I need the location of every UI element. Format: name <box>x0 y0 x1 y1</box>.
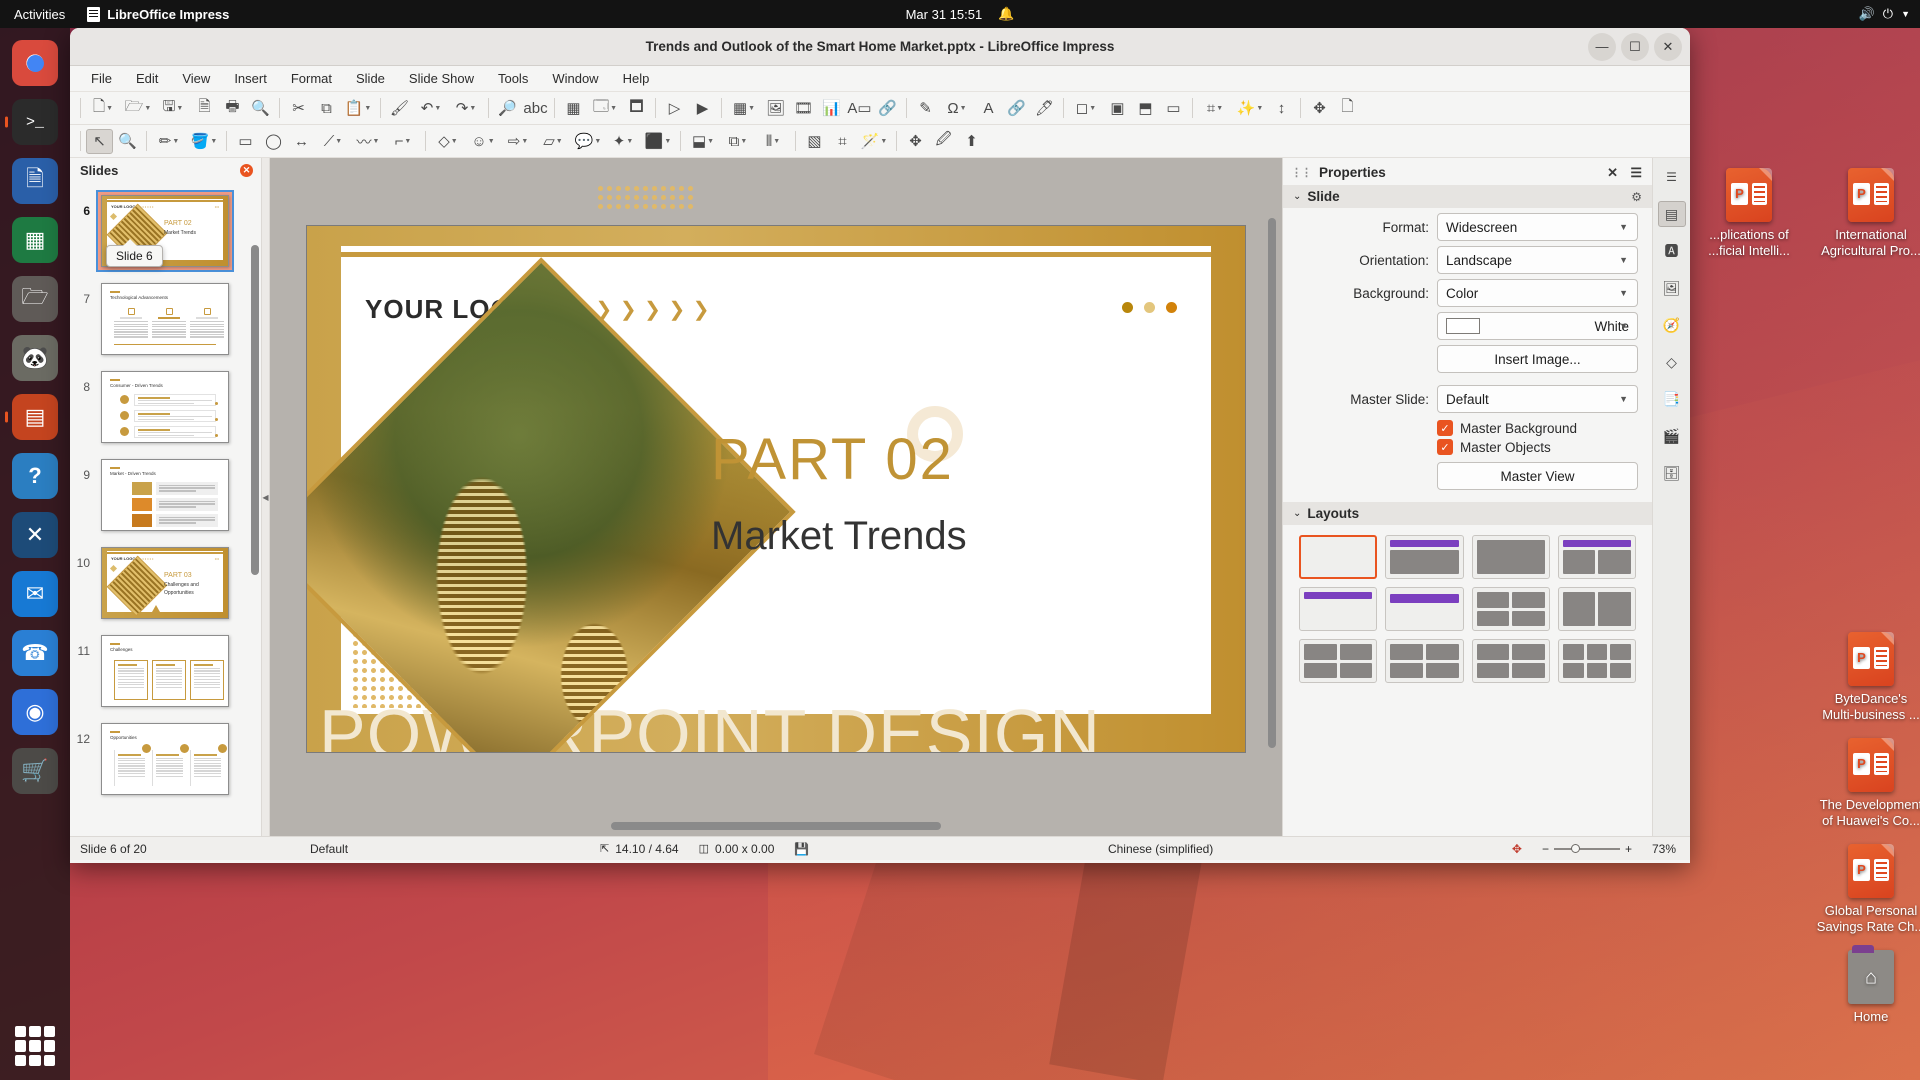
insert-chart-icon[interactable]: 📊 <box>818 96 845 121</box>
print-preview-icon[interactable]: 🔍 <box>247 96 274 121</box>
powerpoint-file-icon: P <box>1848 738 1894 792</box>
desktop-icon-international-agricultural-pro[interactable]: PInternational Agricultural Pro... <box>1812 168 1920 260</box>
stars-shapes-icon[interactable]: ✦▼ <box>606 129 640 154</box>
save-document-icon[interactable]: 🖫▼ <box>156 96 190 121</box>
dock-item-help[interactable]: ? <box>12 453 58 499</box>
to-background-icon[interactable]: ⬆ <box>958 129 985 154</box>
position-indicator: ⇱ 14.10 / 4.64 <box>590 842 689 856</box>
insert-image-label: Insert Image... <box>1494 352 1580 367</box>
decorative-dot-grid <box>596 184 696 210</box>
slide-transition-tab[interactable]: 🗄 <box>1658 460 1686 486</box>
copy-icon[interactable]: ⧉ <box>313 96 340 121</box>
layout-two-content[interactable] <box>1558 535 1636 579</box>
libreoffice-impress-window: Trends and Outlook of the Smart Home Mar… <box>70 28 1690 863</box>
master-slide-label: Master Slide: <box>1297 392 1429 407</box>
connectors-icon[interactable]: ⌐▼ <box>386 129 420 154</box>
slide-panel-scrollbar[interactable] <box>251 245 259 575</box>
orientation-value: Landscape <box>1446 253 1512 268</box>
slide-thumbnail-frame: Market - Driven Trends <box>96 454 234 536</box>
slide-thumbnail-frame: Technological Advancements <box>96 278 234 360</box>
crop-image-icon[interactable]: ⌗▼ <box>1198 96 1232 121</box>
slide-thumbnail-9[interactable]: 9 Market - Driven Trends <box>70 451 261 539</box>
window-title-bar: Trends and Outlook of the Smart Home Mar… <box>70 28 1690 66</box>
slide-thumbnail-frame: YOUR LOGO •••••• ••• PART 03 Challenges … <box>96 542 234 624</box>
toolbar-separator <box>80 131 81 151</box>
select-tool-icon[interactable]: ↖ <box>86 129 113 154</box>
slide-panel-collapse-handle[interactable]: ◀ <box>262 158 270 836</box>
minimize-button[interactable]: — <box>1588 33 1616 61</box>
layout-one-plus-two[interactable] <box>1558 587 1636 631</box>
slide-number: 11 <box>74 630 90 658</box>
slide-thumbnail-preview: Consumer - Driven Trends <box>101 371 229 443</box>
size-indicator: ◫ 0.00 x 0.00 <box>689 842 785 856</box>
master-slides-tab[interactable]: 📑 <box>1658 386 1686 412</box>
align-objects-icon[interactable]: ⬒ <box>1132 96 1159 121</box>
line-ends-arrow-icon[interactable]: ⟋▼ <box>316 129 350 154</box>
bell-icon: 🔔 <box>998 6 1014 22</box>
close-icon[interactable]: ✕ <box>240 164 253 177</box>
powerpoint-file-icon: P <box>1848 168 1894 222</box>
size-value: 0.00 x 0.00 <box>715 842 774 856</box>
slide-section-title: Slide <box>1307 189 1339 204</box>
hamburger-icon[interactable]: ☰ <box>1630 165 1642 181</box>
insert-hyperlink-icon[interactable]: 🔗 <box>874 96 901 121</box>
animation-tab[interactable]: 🎬 <box>1658 423 1686 449</box>
fill-color-icon[interactable]: 🪣▼ <box>187 129 221 154</box>
menu-item-help[interactable]: Help <box>612 68 661 89</box>
clone-formatting-icon[interactable]: 🖌 <box>386 96 413 121</box>
transformations-icon[interactable]: ↕ <box>1268 96 1295 121</box>
shapes-tab[interactable]: ◇ <box>1658 349 1686 375</box>
slide-subtitle[interactable]: Market Trends <box>711 514 967 559</box>
properties-tab[interactable]: ▤ <box>1658 201 1686 227</box>
desktop-icon-applications-of-artificial-intelligence[interactable]: P...plications of ...ficial Intelli... <box>1690 168 1808 260</box>
close-button[interactable]: ✕ <box>1654 33 1682 61</box>
toolbar-separator <box>80 98 81 118</box>
layout-title-only-content[interactable] <box>1472 535 1550 579</box>
slide-section-header[interactable]: ⌄ Slide ⚙ <box>1283 185 1652 208</box>
find-replace-icon[interactable]: 🔎 <box>494 96 521 121</box>
desktop-icon-label: ByteDance's Multi-business ... <box>1812 691 1920 724</box>
activities-button[interactable]: Activities <box>0 7 77 22</box>
drawing-toolbar: ↖🔍✏▼🪣▼▭◯↔⟋▼〰▼⌐▼◇▼☺▼⇨▼▱▼💬▼✦▼⬛▼⬓▼⧉▼⫴▼▧⌗🪄▼✥… <box>70 125 1690 158</box>
powerpoint-file-icon: P <box>1726 168 1772 222</box>
power-icon: ⏻ <box>1883 6 1893 22</box>
toolbar-separator <box>488 98 489 118</box>
zoom-slider[interactable]: − + <box>1532 842 1642 856</box>
layout-grid <box>1283 525 1652 693</box>
glue-points-icon[interactable]: 🖉 <box>930 129 957 154</box>
open-document-icon[interactable]: 🗁▼ <box>121 96 155 121</box>
sidebar-properties-deck: ⋮⋮ Properties ✕ ☰ ⌄ Slide ⚙ Format: Wide… <box>1282 158 1690 836</box>
toolbar-separator <box>1300 98 1301 118</box>
insert-line-arrow-icon[interactable]: ↔ <box>288 129 315 154</box>
clock-label: Mar 31 15:51 <box>906 7 983 22</box>
navigator-tab[interactable]: 🧭 <box>1658 312 1686 338</box>
folder-icon: ⌂ <box>1848 950 1894 1004</box>
dock-item-discord[interactable]: ◉ <box>12 689 58 735</box>
slide-number: 7 <box>74 278 90 306</box>
sidebar-header: ⋮⋮ Properties ✕ ☰ <box>1283 158 1652 185</box>
insert-image-icon[interactable]: 🖼 <box>762 96 789 121</box>
new-slide-icon[interactable]: 🗋 <box>1334 96 1361 121</box>
desktop-icon-label: Home <box>1812 1009 1920 1025</box>
sidebar-tab-rail: ☰ ▤ 🅰 🖼 🧭 ◇ 📑 🎬 🗄 <box>1652 158 1690 836</box>
sidebar-title: Properties <box>1319 165 1386 180</box>
master-view-row: Master View <box>1283 455 1652 490</box>
display-views-icon[interactable]: 🗔▼ <box>588 96 622 121</box>
background-color-select[interactable]: White ▼ <box>1437 312 1638 340</box>
background-row: Background: Color ▼ <box>1283 274 1652 307</box>
zoom-in-button[interactable]: + <box>1625 842 1632 856</box>
checkbox-checked-icon: ✓ <box>1437 439 1453 455</box>
basic-shapes-icon[interactable]: ◇▼ <box>431 129 465 154</box>
master-view-label: Master View <box>1500 469 1574 484</box>
impress-icon <box>87 7 100 22</box>
menu-item-view[interactable]: View <box>171 68 221 89</box>
slide-panel-header: Slides ✕ <box>70 158 261 183</box>
layouts-section-title: Layouts <box>1307 506 1359 521</box>
shadow-icon[interactable]: ▧ <box>801 129 828 154</box>
chevron-down-icon: ⌄ <box>1293 508 1301 519</box>
orientation-select[interactable]: Landscape ▼ <box>1437 246 1638 274</box>
horizontal-scrollbar[interactable] <box>611 822 941 830</box>
fit-slide-icon[interactable]: ✥ <box>1502 842 1532 856</box>
background-select[interactable]: Color ▼ <box>1437 279 1638 307</box>
new-document-icon[interactable]: 🗋▼ <box>86 96 120 121</box>
gear-icon[interactable]: ⚙ <box>1631 190 1642 204</box>
master-slide-row: Master Slide: Default ▼ <box>1283 373 1652 413</box>
dock-item-vscode[interactable]: ✕ <box>12 512 58 558</box>
zoom-knob[interactable] <box>1571 844 1580 853</box>
layout-four-content[interactable] <box>1472 639 1550 683</box>
chevron-down-icon: ▼ <box>1901 9 1910 19</box>
toolbar-separator <box>906 98 907 118</box>
slide-thumbnail-frame: Consumer - Driven Trends <box>96 366 234 448</box>
gallery-tab[interactable]: 🖼 <box>1658 275 1686 301</box>
orientation-row: Orientation: Landscape ▼ <box>1283 241 1652 274</box>
toolbar-separator <box>655 98 656 118</box>
window-title: Trends and Outlook of the Smart Home Mar… <box>646 39 1115 54</box>
redo-icon[interactable]: ↷▼ <box>449 96 483 121</box>
slide-thumbnail-preview: Challenges <box>101 635 229 707</box>
flowchart-shapes-icon[interactable]: ▱▼ <box>536 129 570 154</box>
symbol-shapes-icon[interactable]: ☺▼ <box>466 129 500 154</box>
menu-item-slide[interactable]: Slide <box>345 68 396 89</box>
format-value: Widescreen <box>1446 220 1517 235</box>
layout-title-content[interactable] <box>1385 535 1463 579</box>
powerpoint-file-icon: P <box>1848 844 1894 898</box>
shadow-icon[interactable]: ▭ <box>1160 96 1187 121</box>
chevron-down-icon: ⌄ <box>1293 191 1301 202</box>
background-label: Background: <box>1297 286 1429 301</box>
checkbox-checked-icon: ✓ <box>1437 420 1453 436</box>
language-indicator[interactable]: Chinese (simplified) <box>1098 842 1223 856</box>
print-icon[interactable]: 🖶 <box>219 96 246 121</box>
slide-thumbnail-frame: Challenges <box>96 630 234 712</box>
menu-item-insert[interactable]: Insert <box>223 68 278 89</box>
menu-item-slide-show[interactable]: Slide Show <box>398 68 485 89</box>
slide-thumbnail-list[interactable]: 6 YOUR LOGO •••••• ••• PART 02 Market Tr… <box>70 183 261 836</box>
master-objects-label: Master Objects <box>1460 440 1551 455</box>
format-row: Format: Widescreen ▼ <box>1283 208 1652 241</box>
layout-centered-text[interactable] <box>1385 587 1463 631</box>
slide-thumbnail-preview: Market - Driven Trends <box>101 459 229 531</box>
position-icon: ⇱ <box>600 842 609 855</box>
gnome-top-bar: Activities LibreOffice Impress Mar 31 15… <box>0 0 1920 28</box>
toolbar-separator <box>896 131 897 151</box>
slide-editing-view[interactable]: POWERPOINT DESIGN YOUR LOGO ❯ ❯ ❯ ❯ ❯ ❯ … <box>306 225 1246 753</box>
active-app-name: LibreOffice Impress <box>107 7 229 22</box>
master-background-checkbox[interactable]: ✓ Master Background <box>1283 413 1652 436</box>
master-objects-checkbox[interactable]: ✓ Master Objects <box>1283 436 1652 455</box>
arrange-icon[interactable]: ▣ <box>1104 96 1131 121</box>
menu-item-edit[interactable]: Edit <box>125 68 169 89</box>
ubuntu-dock: >_ 🗎 ▦ 🗁 🐼 ▤ ? ✕ ✉ ☎ ◉ 🛒 <box>0 28 70 1080</box>
chevron-down-icon: ▼ <box>1619 255 1628 265</box>
master-background-label: Master Background <box>1460 421 1577 436</box>
vertical-scrollbar[interactable] <box>1268 218 1276 748</box>
menu-item-tools[interactable]: Tools <box>487 68 539 89</box>
show-applications-button[interactable] <box>15 1026 55 1066</box>
toolbar-separator <box>554 98 555 118</box>
slide-thumbnail-6[interactable]: 6 YOUR LOGO •••••• ••• PART 02 Market Tr… <box>70 187 261 275</box>
standard-toolbar: 🗋▼🗁▼🖫▼🗎🖶🔍✂⧉📋▼🖌↶▼↷▼🔎abc▦🗔▼🗖▷▶▦▼🖼🎞📊A▭🔗✎Ω▼A… <box>70 92 1690 125</box>
zoom-value[interactable]: 73% <box>1642 842 1690 856</box>
toolbar-separator <box>279 98 280 118</box>
chevron-down-icon: ▼ <box>1619 394 1628 404</box>
crop-image-icon[interactable]: ⌗ <box>829 129 856 154</box>
powerpoint-file-icon: P <box>1848 632 1894 686</box>
window-controls: — ☐ ✕ <box>1588 33 1682 61</box>
toolbar-separator <box>680 131 681 151</box>
slide-part-title[interactable]: PART 02 <box>711 426 954 493</box>
dock-item-software[interactable]: 🛒 <box>12 748 58 794</box>
dock-item-gimp[interactable]: 🐼 <box>12 335 58 381</box>
background-value: Color <box>1446 286 1478 301</box>
desktop-icon-home-folder[interactable]: ⌂Home <box>1812 950 1920 1025</box>
toolbar-separator <box>721 98 722 118</box>
desktop-icon-label: ...plications of ...ficial Intelli... <box>1690 227 1808 260</box>
slide-thumbnail-frame: Opportunities <box>96 718 234 800</box>
filter-icon[interactable]: 🪄▼ <box>857 129 891 154</box>
toolbar-separator <box>146 131 147 151</box>
clock-button[interactable]: Mar 31 15:51 🔔 <box>906 6 1015 22</box>
toolbar-separator <box>795 131 796 151</box>
slide-thumbnail-preview: Technological Advancements <box>101 283 229 355</box>
system-status-area[interactable]: 🔊 ⏻ ▼ <box>1859 6 1910 22</box>
slide-panel: Slides ✕ 6 YOUR LOGO •••••• ••• PART 02 … <box>70 158 262 836</box>
insert-special-character-icon[interactable]: Ω▼ <box>940 96 974 121</box>
callout-shapes-icon[interactable]: 💬▼ <box>571 129 605 154</box>
desktop-icon-bytedance-multi-business[interactable]: PByteDance's Multi-business ... <box>1812 632 1920 724</box>
active-app-menu[interactable]: LibreOffice Impress <box>77 7 239 22</box>
dock-item-files[interactable]: 🗁 <box>12 276 58 322</box>
insert-image-row: Insert Image... <box>1283 340 1652 373</box>
menu-item-format[interactable]: Format <box>280 68 343 89</box>
dock-item-impress[interactable]: ▤ <box>12 394 58 440</box>
slide-counter: Slide 6 of 20 <box>70 842 300 856</box>
dock-item-thunderbird[interactable]: ✉ <box>12 571 58 617</box>
layout-title-only[interactable] <box>1299 587 1377 631</box>
arrange-icon[interactable]: ⧉▼ <box>721 129 755 154</box>
slide-thumbnail-11[interactable]: 11 Challenges <box>70 627 261 715</box>
distribute-selection-icon[interactable]: ⫴▼ <box>756 129 790 154</box>
layout-stacked-blocks[interactable] <box>1385 639 1463 683</box>
insert-image-button[interactable]: Insert Image... <box>1437 345 1638 373</box>
3d-objects-icon[interactable]: ⬛▼ <box>641 129 675 154</box>
dock-item-chrome[interactable] <box>12 40 58 86</box>
slide-dot-marks <box>1122 302 1177 313</box>
line-color-icon[interactable]: ✏▼ <box>152 129 186 154</box>
insert-textbox-icon[interactable]: A▭ <box>846 96 873 121</box>
dock-item-terminal[interactable]: >_ <box>12 99 58 145</box>
slide-number: 12 <box>74 718 90 746</box>
align-objects-icon[interactable]: ⬓▼ <box>686 129 720 154</box>
desktop-icon-global-personal-savings-rate[interactable]: PGlobal Personal Savings Rate Ch... <box>1812 844 1920 936</box>
background-color-row: White ▼ <box>1283 307 1652 340</box>
undo-icon[interactable]: ↶▼ <box>414 96 448 121</box>
work-area: Slides ✕ 6 YOUR LOGO •••••• ••• PART 02 … <box>70 158 1690 836</box>
insert-table-icon[interactable]: ▦▼ <box>727 96 761 121</box>
dock-item-writer[interactable]: 🗎 <box>12 158 58 204</box>
maximize-button[interactable]: ☐ <box>1621 33 1649 61</box>
dock-item-calc[interactable]: ▦ <box>12 217 58 263</box>
menu-item-window[interactable]: Window <box>541 68 609 89</box>
styles-tab[interactable]: 🅰 <box>1658 238 1686 264</box>
desktop-icon-the-development-of-huawei[interactable]: PThe Development of Huawei's Co... <box>1812 738 1920 830</box>
toolbar-separator <box>380 98 381 118</box>
status-bar: Slide 6 of 20 Default ⇱ 14.10 / 4.64 ◫ 0… <box>70 836 1690 860</box>
slide-thumbnail-preview: YOUR LOGO •••••• ••• PART 03 Challenges … <box>101 547 229 619</box>
toolbar-separator <box>1063 98 1064 118</box>
insert-hyperlink-2-icon[interactable]: 🔗 <box>1003 96 1030 121</box>
desktop-icon-label: Global Personal Savings Rate Ch... <box>1812 903 1920 936</box>
menu-item-file[interactable]: File <box>80 68 123 89</box>
slide-number: 8 <box>74 366 90 394</box>
insert-ellipse-icon[interactable]: ◯ <box>260 129 287 154</box>
display-grid-icon[interactable]: ▦ <box>560 96 587 121</box>
export-pdf-icon[interactable]: 🗎 <box>191 96 218 121</box>
menu-bar: FileEditViewInsertFormatSlideSlide ShowT… <box>70 66 1690 92</box>
zoom-out-button[interactable]: − <box>1542 842 1549 856</box>
orientation-label: Orientation: <box>1297 253 1429 268</box>
desktop-icon-label: International Agricultural Pro... <box>1812 227 1920 260</box>
zoom-track[interactable] <box>1554 848 1620 850</box>
master-view-button[interactable]: Master View <box>1437 462 1638 490</box>
master-slide-select[interactable]: Default ▼ <box>1437 385 1638 413</box>
insert-line-color-icon[interactable]: 🖊 <box>1031 96 1058 121</box>
basic-shapes-icon[interactable]: ◻▼ <box>1069 96 1103 121</box>
slide-thumbnail-7[interactable]: 7 Technological Advancements <box>70 275 261 363</box>
slide-canvas-area[interactable]: POWERPOINT DESIGN YOUR LOGO ❯ ❯ ❯ ❯ ❯ ❯ … <box>270 158 1282 836</box>
master-slide-value: Default <box>1446 392 1489 407</box>
spelling-icon[interactable]: abc <box>522 96 549 121</box>
drag-grip-icon[interactable]: ⋮⋮ <box>1291 170 1311 176</box>
save-state-icon[interactable]: 💾 <box>784 842 819 856</box>
cut-icon[interactable]: ✂ <box>285 96 312 121</box>
size-icon: ◫ <box>699 842 709 855</box>
zoom-tool-icon[interactable]: 🔍 <box>114 129 141 154</box>
start-from-current-slide-icon[interactable]: ▶ <box>689 96 716 121</box>
desktop-icon-label: The Development of Huawei's Co... <box>1812 797 1920 830</box>
slide-top-rule <box>341 252 1211 257</box>
slide-number: 9 <box>74 454 90 482</box>
block-arrows-icon[interactable]: ⇨▼ <box>501 129 535 154</box>
chevron-down-icon: ▼ <box>1619 288 1628 298</box>
close-icon[interactable]: ✕ <box>1607 165 1618 181</box>
chevron-down-icon: ▼ <box>1619 321 1628 331</box>
insert-audio-video-icon[interactable]: 🎞 <box>790 96 817 121</box>
toolbar-separator <box>425 131 426 151</box>
points-icon[interactable]: ✥ <box>902 129 929 154</box>
sidebar-settings-icon[interactable]: ☰ <box>1658 164 1686 190</box>
master-slide-icon[interactable]: 🗖 <box>623 96 650 121</box>
slide-number: 6 <box>74 190 90 218</box>
master-name: Default <box>300 842 590 856</box>
slide-tooltip: Slide 6 <box>106 245 163 267</box>
paste-icon[interactable]: 📋▼ <box>341 96 375 121</box>
slide-thumbnail-8[interactable]: 8 Consumer - Driven Trends <box>70 363 261 451</box>
edit-points-icon[interactable]: ✥ <box>1306 96 1333 121</box>
slide-thumbnail-12[interactable]: 12 Opportunities <box>70 715 261 803</box>
color-swatch <box>1446 318 1480 334</box>
layout-three-rows[interactable] <box>1299 639 1377 683</box>
slide-panel-title: Slides <box>80 163 118 178</box>
dock-item-signal[interactable]: ☎ <box>12 630 58 676</box>
format-select[interactable]: Widescreen ▼ <box>1437 213 1638 241</box>
layouts-section-header[interactable]: ⌄ Layouts <box>1283 502 1652 525</box>
slide-thumbnail-10[interactable]: 10 YOUR LOGO •••••• ••• PART 03 Challeng… <box>70 539 261 627</box>
curves-polygons-icon[interactable]: 〰▼ <box>351 129 385 154</box>
layout-two-by-two[interactable] <box>1472 587 1550 631</box>
start-from-first-slide-icon[interactable]: ▷ <box>661 96 688 121</box>
filter-icon[interactable]: ✨▼ <box>1233 96 1267 121</box>
volume-icon: 🔊 <box>1859 6 1875 22</box>
insert-fontwork-icon[interactable]: A <box>975 96 1002 121</box>
insert-rectangle-icon[interactable]: ▭ <box>232 129 259 154</box>
layout-blank[interactable] <box>1299 535 1377 579</box>
show-draw-functions-icon[interactable]: ✎ <box>912 96 939 121</box>
slide-number: 10 <box>74 542 90 570</box>
format-label: Format: <box>1297 220 1429 235</box>
position-value: 14.10 / 4.64 <box>615 842 678 856</box>
toolbar-separator <box>226 131 227 151</box>
chevron-down-icon: ▼ <box>1619 222 1628 232</box>
slide-thumbnail-preview: Opportunities <box>101 723 229 795</box>
toolbar-separator <box>1192 98 1193 118</box>
layout-six-content[interactable] <box>1558 639 1636 683</box>
